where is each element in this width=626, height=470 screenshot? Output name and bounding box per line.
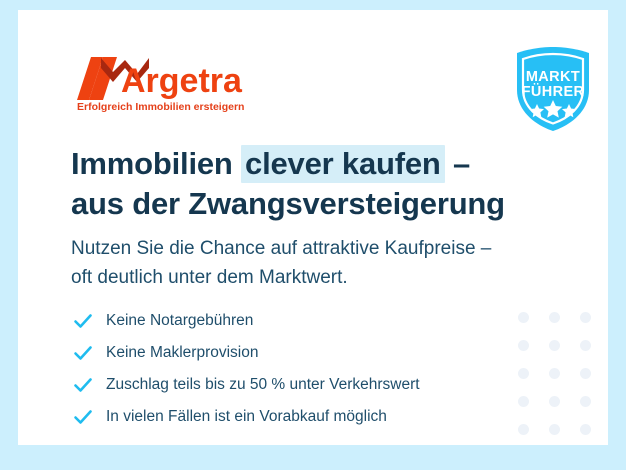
benefit-label: In vielen Fällen ist ein Vorabkauf mögli… <box>106 409 387 425</box>
decoration-dot <box>518 312 529 323</box>
list-item: In vielen Fällen ist ein Vorabkauf mögli… <box>73 402 513 432</box>
dot-pattern-decoration <box>518 312 608 445</box>
benefit-label: Zuschlag teils bis zu 50 % unter Verkehr… <box>106 377 420 393</box>
argetra-logo-icon: Argetra Erfolgreich Immobilien ersteiger… <box>73 52 273 114</box>
check-icon <box>73 407 93 427</box>
check-icon <box>73 311 93 331</box>
benefit-label: Keine Maklerprovision <box>106 345 259 361</box>
benefits-list: Keine NotargebührenKeine Maklerprovision… <box>73 306 513 434</box>
check-icon <box>73 343 93 363</box>
decoration-dot <box>549 424 560 435</box>
benefit-label: Keine Notargebühren <box>106 313 253 329</box>
decoration-dot <box>518 396 529 407</box>
decoration-dot <box>518 340 529 351</box>
list-item: Keine Notargebühren <box>73 306 513 336</box>
decoration-dot <box>549 396 560 407</box>
list-item: Zuschlag teils bis zu 50 % unter Verkehr… <box>73 370 513 400</box>
decoration-dot <box>518 424 529 435</box>
svg-text:Argetra: Argetra <box>121 62 243 100</box>
decoration-dot <box>580 424 591 435</box>
decoration-dot <box>549 340 560 351</box>
svg-text:MARKT: MARKT <box>526 69 580 85</box>
subheading: Nutzen Sie die Chance auf attraktive Kau… <box>71 234 571 293</box>
decoration-dot <box>580 340 591 351</box>
svg-text:Erfolgreich Immobilien ersteig: Erfolgreich Immobilien ersteigern <box>77 101 244 113</box>
shield-icon: MARKT FÜHRER <box>507 43 599 135</box>
promo-banner: Argetra Erfolgreich Immobilien ersteiger… <box>0 0 626 470</box>
decoration-dot <box>549 368 560 379</box>
check-icon <box>73 375 93 395</box>
headline-line2: aus der Zwangsversteigerung <box>71 186 505 221</box>
decoration-dot <box>580 312 591 323</box>
market-leader-badge: MARKT FÜHRER MARKT FÜHRER <box>507 43 599 135</box>
decoration-dot <box>549 312 560 323</box>
headline: Immobilien clever kaufen –aus der Zwangs… <box>71 144 591 225</box>
headline-highlight: clever kaufen <box>241 145 445 183</box>
decoration-dot <box>580 368 591 379</box>
subheading-line2: oft deutlich unter dem Marktwert. <box>71 267 348 288</box>
decoration-dot <box>518 368 529 379</box>
subheading-line1: Nutzen Sie die Chance auf attraktive Kau… <box>71 238 491 259</box>
list-item: Keine Maklerprovision <box>73 338 513 368</box>
banner-card: Argetra Erfolgreich Immobilien ersteiger… <box>18 10 608 445</box>
headline-part2: – <box>445 146 470 181</box>
argetra-logo[interactable]: Argetra Erfolgreich Immobilien ersteiger… <box>73 52 273 114</box>
headline-part1: Immobilien <box>71 146 241 181</box>
svg-text:FÜHRER: FÜHRER <box>522 83 585 100</box>
decoration-dot <box>580 396 591 407</box>
